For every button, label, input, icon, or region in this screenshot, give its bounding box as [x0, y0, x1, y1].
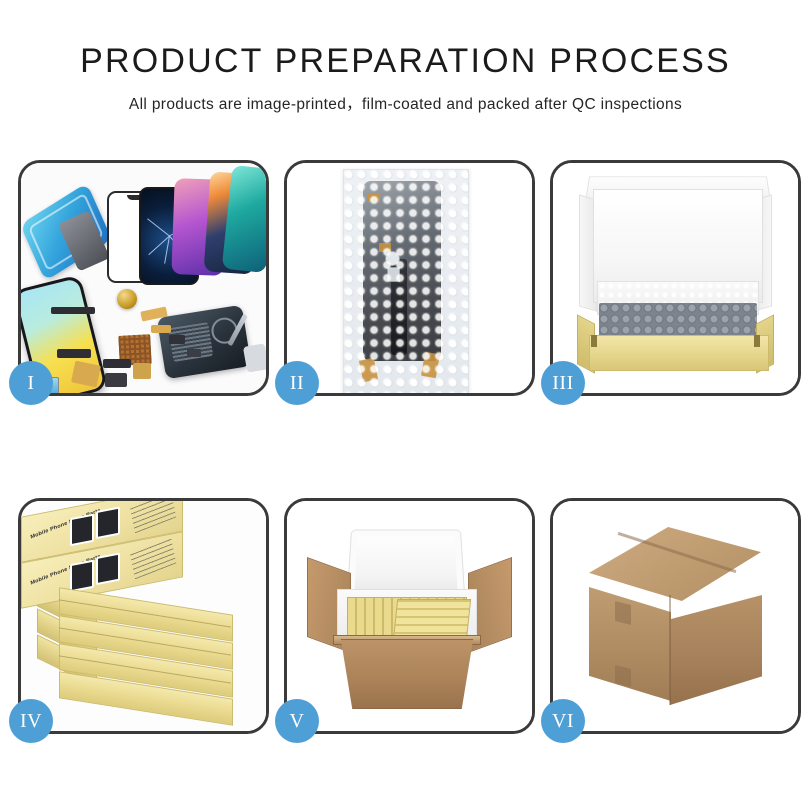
grey-bubble-wrap-insert: [599, 303, 757, 339]
flex-cable-e: [103, 359, 131, 368]
tape-piece-1: [367, 193, 380, 202]
step-badge-6: VI: [541, 699, 585, 743]
page-title: PRODUCT PREPARATION PROCESS: [0, 44, 811, 80]
dark-bar-component: [51, 307, 95, 314]
step-1-image: [21, 163, 266, 393]
stacked-boxes-illustration: Mobile Phone Spare Parts Mobile Phone Sp…: [21, 501, 266, 731]
cable-connector: [385, 251, 400, 266]
box-thumb-front-2: [96, 553, 120, 586]
carton-body: [335, 639, 479, 709]
open-yellow-box-illustration: [553, 163, 798, 393]
process-step-1: I: [18, 160, 269, 396]
foam-lid: [347, 530, 465, 597]
flex-cable-c: [57, 349, 91, 358]
box-thumb-rear-2: [96, 507, 120, 540]
box-print-lines-front: [130, 537, 177, 579]
step-6-image: [553, 501, 798, 731]
process-step-grid: I II: [18, 160, 803, 734]
process-step-5: V: [284, 498, 535, 734]
carton-top-face: [589, 527, 761, 601]
step-3-image: [553, 163, 798, 393]
bubble-wrap-illustration: [287, 163, 532, 393]
page-subtitle: All products are image-printed，film-coat…: [0, 92, 811, 114]
process-step-6: VI: [550, 498, 801, 734]
carton-vertical-fold: [669, 595, 671, 705]
step-badge-1: I: [9, 361, 53, 405]
chip-component-b: [187, 349, 201, 357]
chip-component-a: [169, 335, 185, 344]
step-4-image: Mobile Phone Spare Parts Mobile Phone Sp…: [21, 501, 266, 731]
sealed-carton-illustration: [553, 501, 798, 731]
cable-chip: [387, 267, 400, 282]
gold-coil-component: [117, 289, 137, 309]
step-2-image: [287, 163, 532, 393]
process-step-3: III: [550, 160, 801, 396]
box-thumb-rear-1: [70, 514, 94, 547]
tape-piece-2: [379, 243, 391, 252]
page-header: PRODUCT PREPARATION PROCESS All products…: [0, 0, 811, 114]
flex-cable-f: [105, 373, 127, 387]
step-5-image: [287, 501, 532, 731]
step-badge-5: V: [275, 699, 319, 743]
carton-packing-illustration: [287, 501, 532, 731]
phone-parts-collage-illustration: [21, 163, 266, 393]
carton-right-face: [670, 595, 762, 705]
box-thumb-front-1: [70, 560, 94, 593]
process-step-4: Mobile Phone Spare Parts Mobile Phone Sp…: [18, 498, 269, 734]
box-front-panel: [589, 335, 769, 371]
carton-tape-lower: [615, 665, 631, 687]
box-notch-right: [754, 335, 760, 347]
carton-tape-upper: [615, 601, 631, 625]
flex-cable-b: [151, 325, 171, 333]
process-step-2: II: [284, 160, 535, 396]
step-badge-3: III: [541, 361, 585, 405]
step-badge-4: IV: [9, 699, 53, 743]
repair-tool: [243, 343, 266, 372]
flex-cable-g: [133, 363, 151, 379]
box-notch-left: [591, 335, 597, 347]
step-badge-2: II: [275, 361, 319, 405]
box-print-lines-rear: [130, 501, 177, 533]
